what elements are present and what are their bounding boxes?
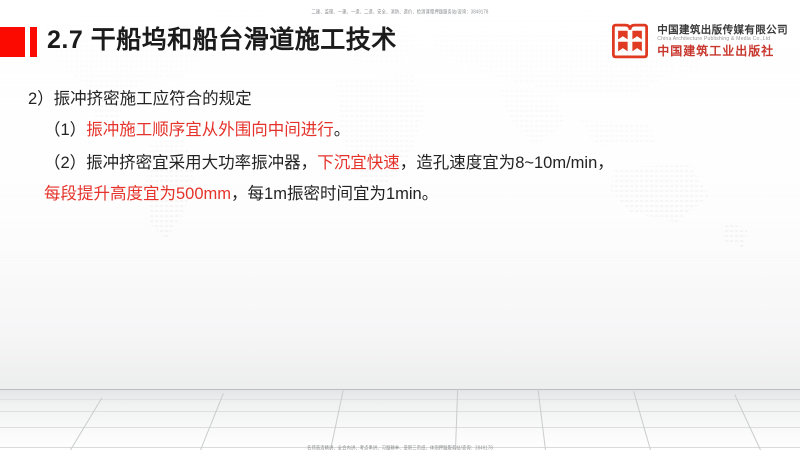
body-line-item-2-2-second: 每段提升高度宜为500mm，每1m振密时间宜为1min。 (44, 179, 800, 210)
body-line-item-2-1-suffix: 。 (334, 121, 351, 139)
body-line-item-2-1-prefix: （1） (44, 121, 86, 139)
publisher-logo: 中国建筑出版传媒有限公司 China Architecture Publishi… (610, 22, 788, 60)
body-line-item-2-2-prefix: （2）振冲挤密宜采用大功率振冲器， (44, 154, 317, 172)
publisher-press-cn: 中国建筑工业出版社 (657, 45, 788, 58)
body-line-item-2-2b-highlight: 每段提升高度宜为500mm (44, 185, 231, 203)
presentation-slide: 二建、监理、一建、一造、二造、安全、消防、造价、检测课程押题服务站/咨询：384… (0, 0, 800, 450)
footer-text: 名师高清精讲、全会内讲、考点串讲、习题精单、章职三页纸、体测押题服务站/咨询：3… (307, 443, 493, 450)
body-line-item-2-2-suffix: ，造孔速度宜为8~10m/min， (400, 154, 614, 172)
body-line-item-2-2-highlight: 下沉宜快速 (317, 154, 400, 172)
body-line-item-2-2b-suffix: ，每1m振密时间宜为1min。 (231, 185, 438, 203)
publisher-company-cn: 中国建筑出版传媒有限公司 (657, 25, 788, 36)
slide-body: 2）振冲挤密施工应符合的规定 （1）振冲施工顺序宜从外围向中间进行。 （2）振冲… (0, 84, 800, 210)
body-line-item-2-2-first: （2）振冲挤密宜采用大功率振冲器，下沉宜快速，造孔速度宜为8~10m/min， (44, 148, 800, 179)
slide-header: 二建、监理、一建、一造、二造、安全、消防、造价、检测课程押题服务站/咨询：384… (0, 0, 800, 78)
header-top-strip-text: 二建、监理、一建、一造、二造、安全、消防、造价、检测课程押题服务站/咨询：384… (311, 3, 488, 21)
publisher-company-en: China Architecture Publishing & Media Co… (657, 37, 788, 42)
accent-block-wide (0, 27, 25, 57)
publisher-logo-text: 中国建筑出版传媒有限公司 China Architecture Publishi… (657, 25, 788, 58)
body-line-item-2-text: 2）振冲挤密施工应符合的规定 (28, 90, 252, 108)
header-top-strip: 二建、监理、一建、一造、二造、安全、消防、造价、检测课程押题服务站/咨询：384… (0, 0, 800, 14)
body-line-item-2-1-highlight: 振冲施工顺序宜从外围向中间进行 (86, 121, 334, 139)
accent-block-narrow (30, 27, 37, 57)
body-line-item-2: 2）振冲挤密施工应符合的规定 (28, 84, 800, 115)
slide-footer: 名师高清精讲、全会内讲、考点串讲、习题精单、章职三页纸、体测押题服务站/咨询：3… (0, 436, 800, 450)
page-title: 2.7 干船坞和船台滑道施工技术 (47, 22, 397, 58)
body-line-item-2-1: （1）振冲施工顺序宜从外围向中间进行。 (44, 115, 800, 146)
open-book-logo-icon (610, 22, 650, 60)
